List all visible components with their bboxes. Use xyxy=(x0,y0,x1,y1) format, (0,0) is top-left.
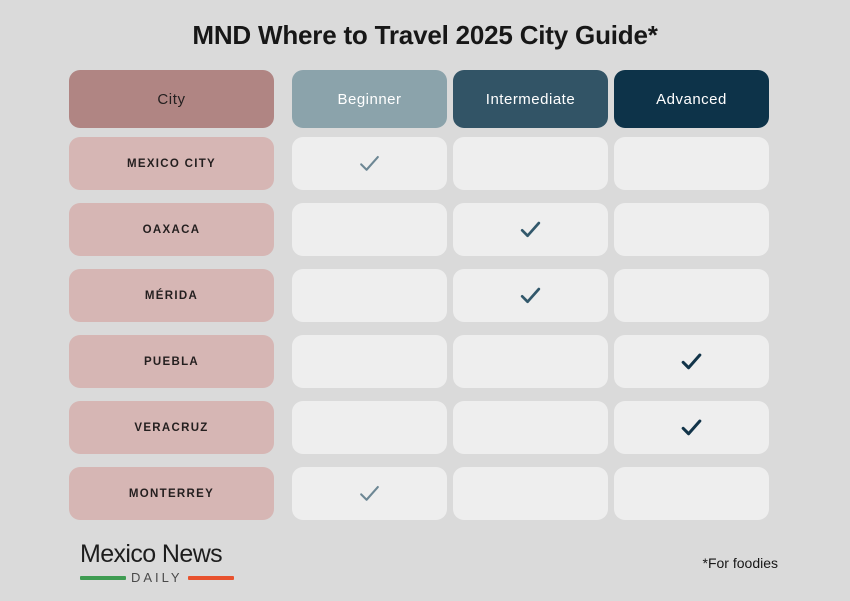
check-icon xyxy=(357,481,382,506)
city-label-mérida: MÉRIDA xyxy=(69,269,274,322)
column-header-intermediate: Intermediate xyxy=(453,70,608,128)
cell-intermediate[interactable] xyxy=(453,335,608,388)
flag-green-bar xyxy=(80,576,126,580)
cell-gap xyxy=(274,401,292,454)
cell-advanced[interactable] xyxy=(614,203,769,256)
cell-beginner[interactable] xyxy=(292,401,447,454)
cell-beginner[interactable] xyxy=(292,467,447,520)
cell-gap xyxy=(274,335,292,388)
column-header-beginner: Beginner xyxy=(292,70,447,128)
table-row: MÉRIDA xyxy=(69,269,781,322)
city-label-mexico-city: MEXICO CITY xyxy=(69,137,274,190)
city-label-puebla: PUEBLA xyxy=(69,335,274,388)
cell-beginner[interactable] xyxy=(292,335,447,388)
table-row: PUEBLA xyxy=(69,335,781,388)
cell-gap xyxy=(274,269,292,322)
table-row: MEXICO CITY xyxy=(69,137,781,190)
table-row: VERACRUZ xyxy=(69,401,781,454)
brand-logo: Mexico News DAILY xyxy=(80,542,234,584)
column-header-city: City xyxy=(69,70,274,128)
cell-beginner[interactable] xyxy=(292,137,447,190)
city-label-veracruz: VERACRUZ xyxy=(69,401,274,454)
table-row: OAXACA xyxy=(69,203,781,256)
cell-gap xyxy=(274,467,292,520)
check-icon xyxy=(679,349,704,374)
check-icon xyxy=(357,151,382,176)
cell-intermediate[interactable] xyxy=(453,269,608,322)
cell-advanced[interactable] xyxy=(614,335,769,388)
logo-daily-text: DAILY xyxy=(131,571,183,584)
cell-beginner[interactable] xyxy=(292,269,447,322)
cell-intermediate[interactable] xyxy=(453,137,608,190)
check-icon xyxy=(518,217,543,242)
table-row: MONTERREY xyxy=(69,467,781,520)
comparison-table: City Beginner Intermediate Advanced MEXI… xyxy=(69,70,781,533)
cell-intermediate[interactable] xyxy=(453,203,608,256)
cell-beginner[interactable] xyxy=(292,203,447,256)
city-label-oaxaca: OAXACA xyxy=(69,203,274,256)
cell-advanced[interactable] xyxy=(614,137,769,190)
footnote: *For foodies xyxy=(703,555,778,571)
footer: Mexico News DAILY *For foodies xyxy=(0,533,850,601)
city-label-monterrey: MONTERREY xyxy=(69,467,274,520)
logo-subline: DAILY xyxy=(80,571,234,584)
cell-gap xyxy=(274,137,292,190)
cell-intermediate[interactable] xyxy=(453,401,608,454)
table-body: MEXICO CITYOAXACAMÉRIDAPUEBLAVERACRUZMON… xyxy=(69,137,781,520)
header-gap xyxy=(274,70,292,128)
page-title: MND Where to Travel 2025 City Guide* xyxy=(192,20,657,51)
check-icon xyxy=(679,415,704,440)
cell-advanced[interactable] xyxy=(614,467,769,520)
cell-intermediate[interactable] xyxy=(453,467,608,520)
flag-red-bar xyxy=(188,576,234,580)
check-icon xyxy=(518,283,543,308)
cell-advanced[interactable] xyxy=(614,401,769,454)
column-header-advanced: Advanced xyxy=(614,70,769,128)
infographic-root: MND Where to Travel 2025 City Guide* Cit… xyxy=(0,0,850,601)
cell-advanced[interactable] xyxy=(614,269,769,322)
table-header-row: City Beginner Intermediate Advanced xyxy=(69,70,781,128)
cell-gap xyxy=(274,203,292,256)
title-container: MND Where to Travel 2025 City Guide* xyxy=(0,0,850,70)
logo-wordmark: Mexico News xyxy=(80,542,222,567)
